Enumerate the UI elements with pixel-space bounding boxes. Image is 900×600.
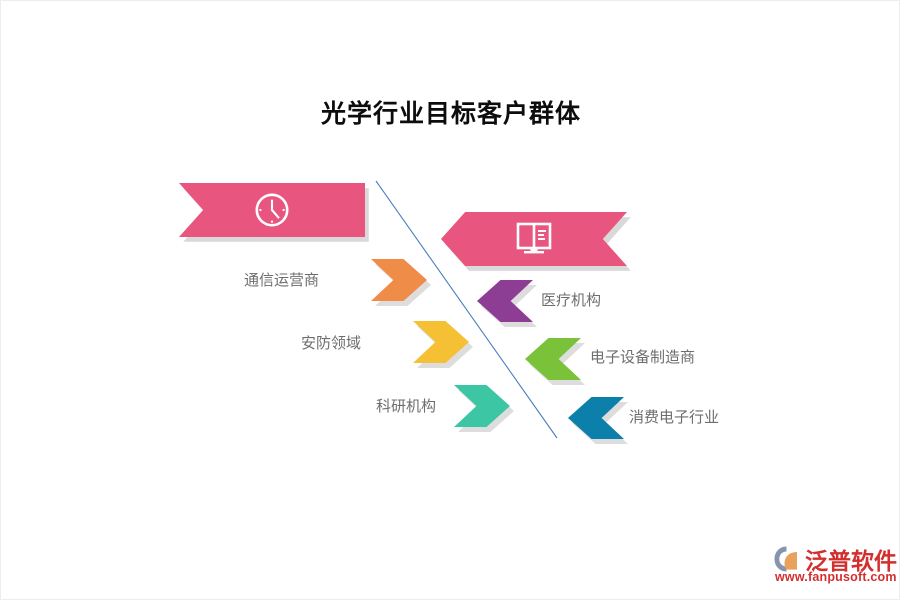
right-item-arrow-1[interactable]	[525, 338, 581, 380]
left-item-arrow-0[interactable]	[371, 259, 427, 301]
banner-book[interactable]	[441, 212, 627, 266]
brand-url: www.fanpusoft.com	[775, 570, 897, 584]
left-item-arrow-1[interactable]	[413, 321, 469, 363]
left-item-arrow-2[interactable]	[454, 385, 510, 427]
banner-clock[interactable]	[179, 183, 365, 237]
fanpu-logo-mark	[773, 545, 803, 573]
right-item-label-0: 医疗机构	[541, 293, 601, 308]
right-item-arrow-0[interactable]	[477, 280, 533, 322]
arrow-body	[568, 397, 624, 439]
arrow-body	[477, 280, 533, 322]
right-item-label-2: 消费电子行业	[629, 410, 719, 425]
page-title: 光学行业目标客户群体	[1, 94, 900, 130]
left-item-label-1: 安防领域	[171, 336, 361, 351]
slide-canvas: 光学行业目标客户群体	[0, 0, 900, 600]
right-item-label-1: 电子设备制造商	[590, 350, 695, 365]
left-item-label-2: 科研机构	[246, 399, 436, 414]
clock-icon	[179, 183, 365, 237]
right-item-arrow-2[interactable]	[568, 397, 624, 439]
open-book-icon	[441, 212, 627, 266]
arrow-body	[525, 338, 581, 380]
brand-logo[interactable]: 泛普软件 www.fanpusoft.com	[773, 541, 893, 589]
left-item-label-0: 通信运营商	[129, 273, 319, 288]
